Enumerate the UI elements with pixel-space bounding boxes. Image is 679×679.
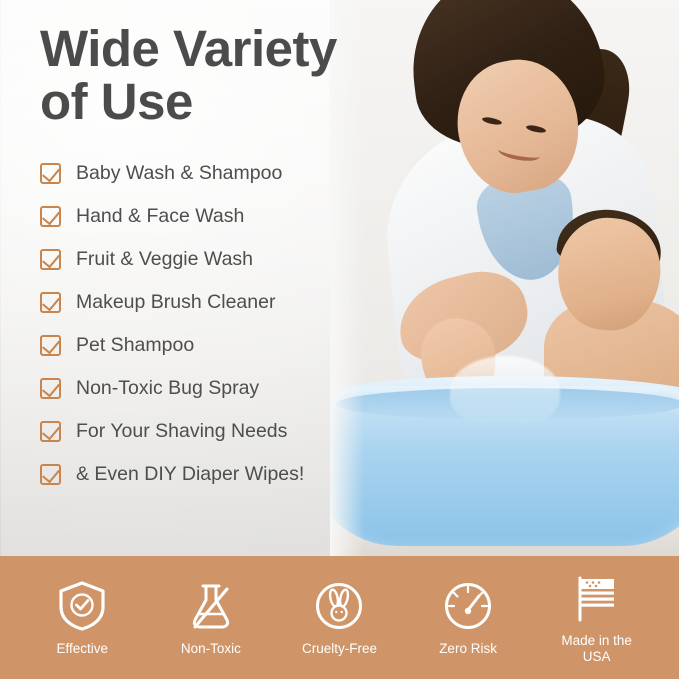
product-infographic: Wide Variety of Use Baby Wash & Shampoo … [0,0,679,679]
badge-zero-risk: Zero Risk [408,578,528,657]
list-item-label: Hand & Face Wash [76,205,244,228]
list-item: Hand & Face Wash [40,195,360,238]
trust-badge-bar: Effective Non-Toxic [0,556,679,679]
list-item-label: Non-Toxic Bug Spray [76,377,259,400]
check-box-icon [40,163,61,184]
list-item: Makeup Brush Cleaner [40,281,360,324]
check-box-icon [40,206,61,227]
list-item: Fruit & Veggie Wash [40,238,360,281]
headline-line-1: Wide Variety [40,22,380,75]
use-case-checklist: Baby Wash & Shampoo Hand & Face Wash Fru… [40,152,360,496]
list-item-label: Fruit & Veggie Wash [76,248,253,271]
list-item: For Your Shaving Needs [40,410,360,453]
page-title: Wide Variety of Use [40,22,380,128]
badge-cruelty-free: Cruelty-Free [279,578,399,657]
rabbit-icon [314,578,364,634]
list-item-label: For Your Shaving Needs [76,420,287,443]
check-box-icon [40,421,61,442]
gauge-icon [443,578,493,634]
check-box-icon [40,378,61,399]
list-item-label: Baby Wash & Shampoo [76,162,282,185]
badge-caption: Cruelty-Free [302,641,377,657]
check-box-icon [40,292,61,313]
badge-effective: Effective [22,578,142,657]
check-box-icon [40,464,61,485]
flask-no-icon [186,578,236,634]
headline-line-2: of Use [40,75,380,128]
badge-caption: Made in theUSA [561,633,632,664]
list-item: Pet Shampoo [40,324,360,367]
hero-area: Wide Variety of Use Baby Wash & Shampoo … [0,0,679,556]
shield-check-icon [57,578,107,634]
list-item-label: Makeup Brush Cleaner [76,291,275,314]
usa-flag-icon [572,570,622,626]
badge-non-toxic: Non-Toxic [151,578,271,657]
badge-caption: Effective [57,641,109,657]
product-photo [330,0,679,556]
list-item: Non-Toxic Bug Spray [40,367,360,410]
list-item-label: & Even DIY Diaper Wipes! [76,463,304,486]
list-item-label: Pet Shampoo [76,334,194,357]
photo-edge-fade [330,0,679,556]
badge-caption: Zero Risk [439,641,497,657]
badge-made-in-usa: Made in theUSA [537,570,657,664]
badge-caption: Non-Toxic [181,641,241,657]
check-box-icon [40,249,61,270]
check-box-icon [40,335,61,356]
list-item: & Even DIY Diaper Wipes! [40,453,360,496]
list-item: Baby Wash & Shampoo [40,152,360,195]
